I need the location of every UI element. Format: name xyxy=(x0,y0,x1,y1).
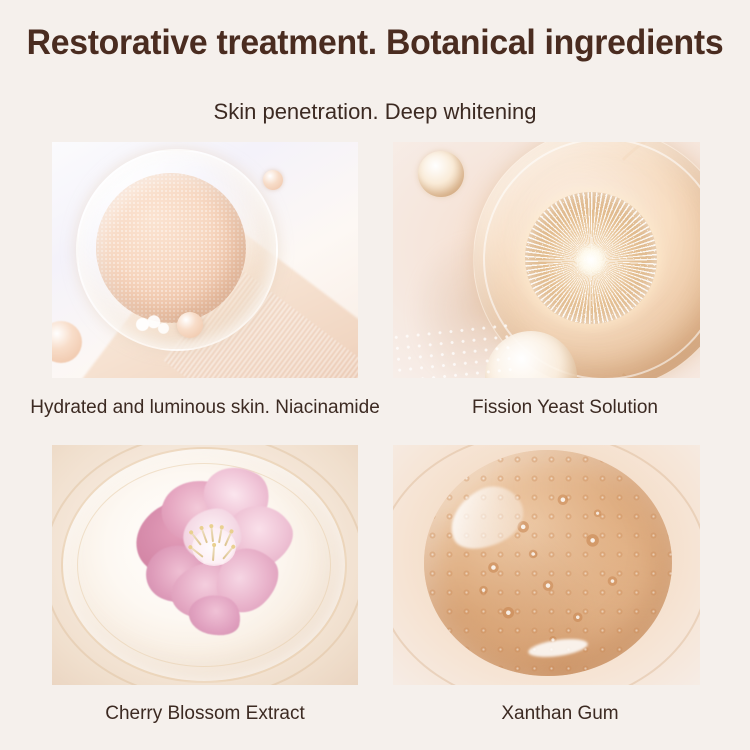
textured-sphere-shape xyxy=(96,173,246,323)
flower-stamen xyxy=(201,529,208,544)
page-subtitle: Skin penetration. Deep whitening xyxy=(0,98,750,126)
flower-stamen xyxy=(212,546,215,561)
small-glass-bubble xyxy=(418,151,464,197)
flower-center-glow xyxy=(192,528,236,566)
niacinamide-bubble-photo xyxy=(52,142,358,378)
ingredient-card-xanthan-gum[interactable] xyxy=(393,445,700,685)
flower-stamen xyxy=(218,528,223,543)
ingredient-card-fission-yeast[interactable] xyxy=(393,142,700,378)
xanthan-gum-gel-photo xyxy=(393,445,700,685)
ingredient-card-cherry-blossom[interactable] xyxy=(52,445,358,685)
foam-cluster-shape xyxy=(132,314,174,340)
cherry-blossom-flower xyxy=(138,474,288,634)
caption-fission-yeast: Fission Yeast Solution xyxy=(400,396,730,420)
flower-stamen xyxy=(210,527,214,542)
flower-stamen xyxy=(224,532,232,547)
ingredient-card-niacinamide[interactable] xyxy=(52,142,358,378)
caption-xanthan-gum: Xanthan Gum xyxy=(395,702,725,726)
starburst-core-sphere xyxy=(525,192,657,324)
flower-stamen xyxy=(222,547,233,560)
caption-cherry-blossom: Cherry Blossom Extract xyxy=(40,702,370,726)
page-title: Restorative treatment. Botanical ingredi… xyxy=(13,22,737,64)
caption-niacinamide: Hydrated and luminous skin. Niacinamide xyxy=(0,396,410,420)
starburst-center-glow xyxy=(574,243,608,277)
cherry-blossom-dish-photo xyxy=(52,445,358,685)
ingredient-infographic: Restorative treatment. Botanical ingredi… xyxy=(0,0,750,750)
amber-gel-shape xyxy=(424,450,672,676)
fission-yeast-sphere-photo xyxy=(393,142,700,378)
